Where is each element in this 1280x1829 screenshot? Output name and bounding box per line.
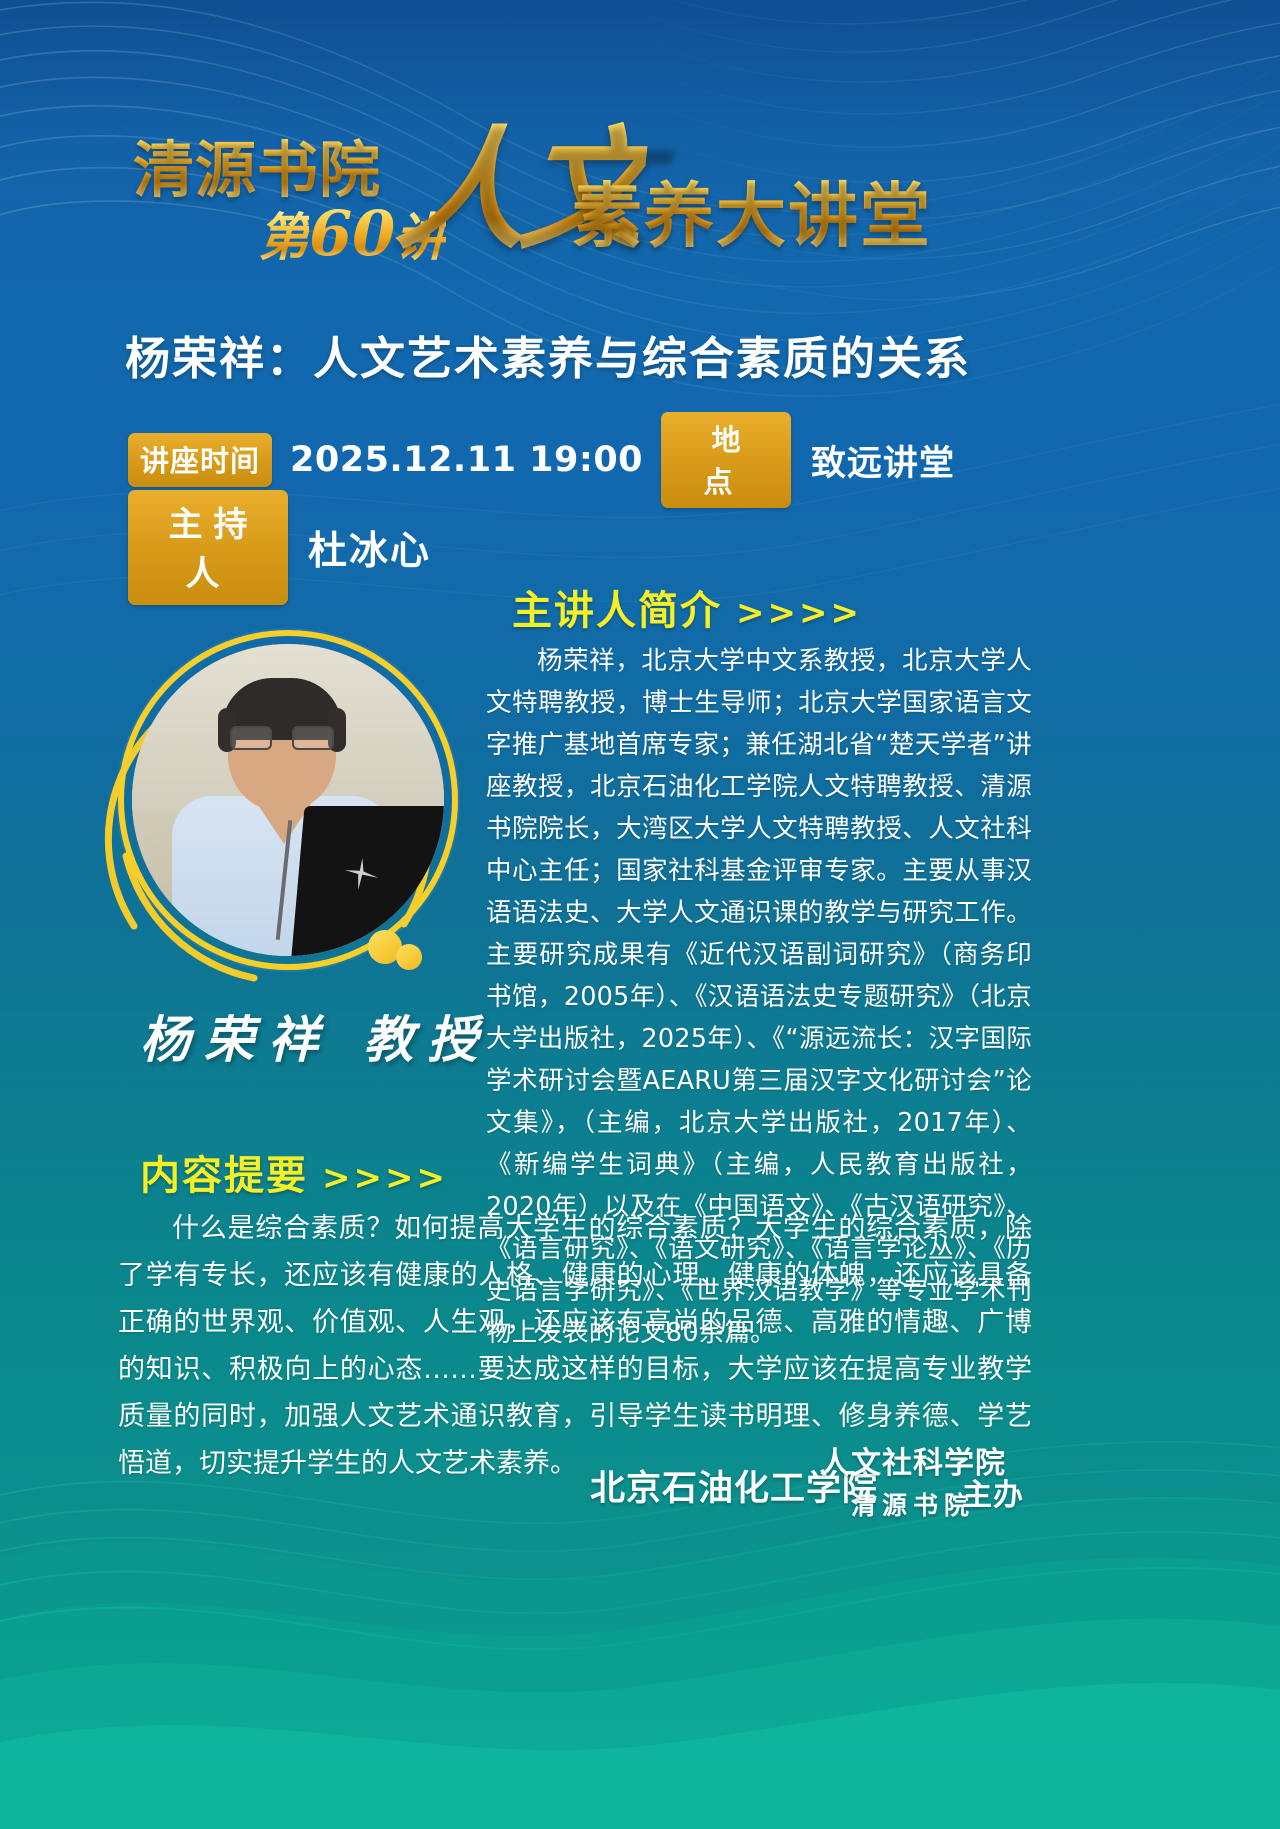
speaker-heading-text: 主讲人简介 xyxy=(512,588,722,634)
content-section-heading: 内容提要>>>> xyxy=(140,1143,448,1201)
poster-footer: 北京石油化工学院 人文社科学院 清源书院 主办 xyxy=(0,1424,1280,1534)
host-name: 杜冰心 xyxy=(308,520,431,576)
host-label-badge: 主持人 xyxy=(128,490,288,605)
speaker-heading-arrows-icon: >>>> xyxy=(736,593,862,633)
speaker-section-heading: 主讲人简介>>>> xyxy=(512,578,862,636)
place-value: 致远讲堂 xyxy=(811,435,955,486)
headline-series: 素养大讲堂 xyxy=(572,160,932,261)
session-number: 60 xyxy=(309,197,395,270)
poster-root: 清源书院 第60讲 人文 素养大讲堂 杨荣祥：人文艺术素养与综合素质的关系 讲座… xyxy=(0,0,1280,1829)
footer-host-word: 主办 xyxy=(962,1470,1024,1514)
speaker-photo-caption: 杨荣祥 教授 xyxy=(140,1000,460,1072)
place-label-badge: 地点 xyxy=(661,412,791,508)
session-prefix: 第 xyxy=(258,208,309,268)
page-title: 杨荣祥：人文艺术素养与综合素质的关系 xyxy=(125,322,971,387)
content-heading-text: 内容提要 xyxy=(140,1153,308,1199)
time-value: 2025.12.11 19:00 xyxy=(290,440,643,480)
time-label-badge: 讲座时间 xyxy=(128,433,272,487)
speaker-avatar xyxy=(132,644,444,956)
poster-header: 清源书院 第60讲 人文 素养大讲堂 xyxy=(0,0,1280,300)
content-heading-arrows-icon: >>>> xyxy=(322,1158,448,1198)
host-row: 主持人 杜冰心 xyxy=(128,490,431,605)
speaker-photo-frame xyxy=(118,630,458,970)
gold-dot-small xyxy=(396,944,422,970)
